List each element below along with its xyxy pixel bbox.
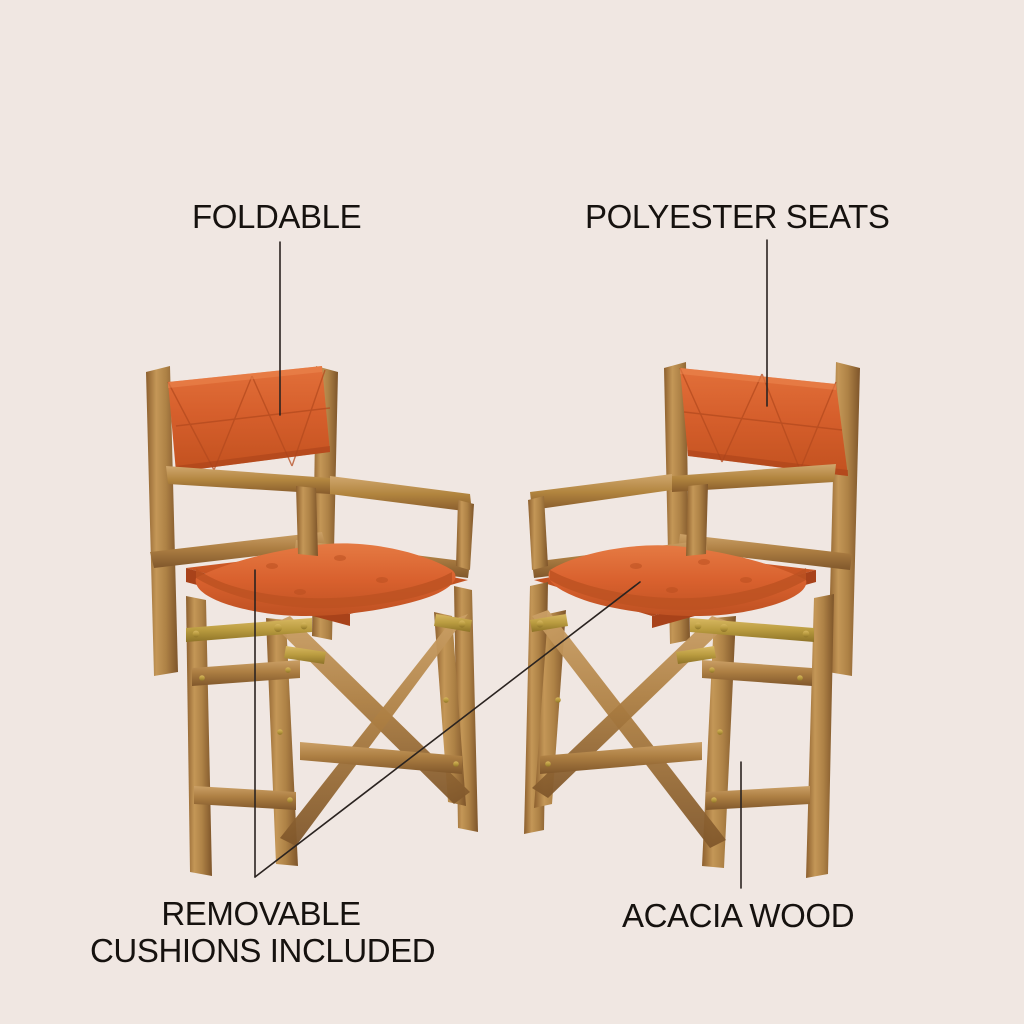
- callout-label-acacia-wood: ACACIA WOOD: [622, 897, 854, 934]
- removable-line-1: REMOVABLE: [161, 895, 360, 932]
- chair-right: [524, 362, 860, 878]
- callout-label-polyester-seats: POLYESTER SEATS: [585, 198, 890, 235]
- callout-label-foldable: FOLDABLE: [192, 198, 361, 235]
- infographic-canvas: FOLDABLE POLYESTER SEATS REMOVABLECUSHIO…: [0, 0, 1024, 1024]
- chair-right-backrest-sling: [680, 368, 848, 476]
- chair-left-backrest-sling: [168, 366, 330, 472]
- chair-left: [146, 366, 478, 876]
- removable-line-2: CUSHIONS INCLUDED: [90, 932, 435, 969]
- callout-label-removable-cushions: REMOVABLECUSHIONS INCLUDED: [90, 895, 432, 970]
- product-illustration: [0, 0, 1024, 1024]
